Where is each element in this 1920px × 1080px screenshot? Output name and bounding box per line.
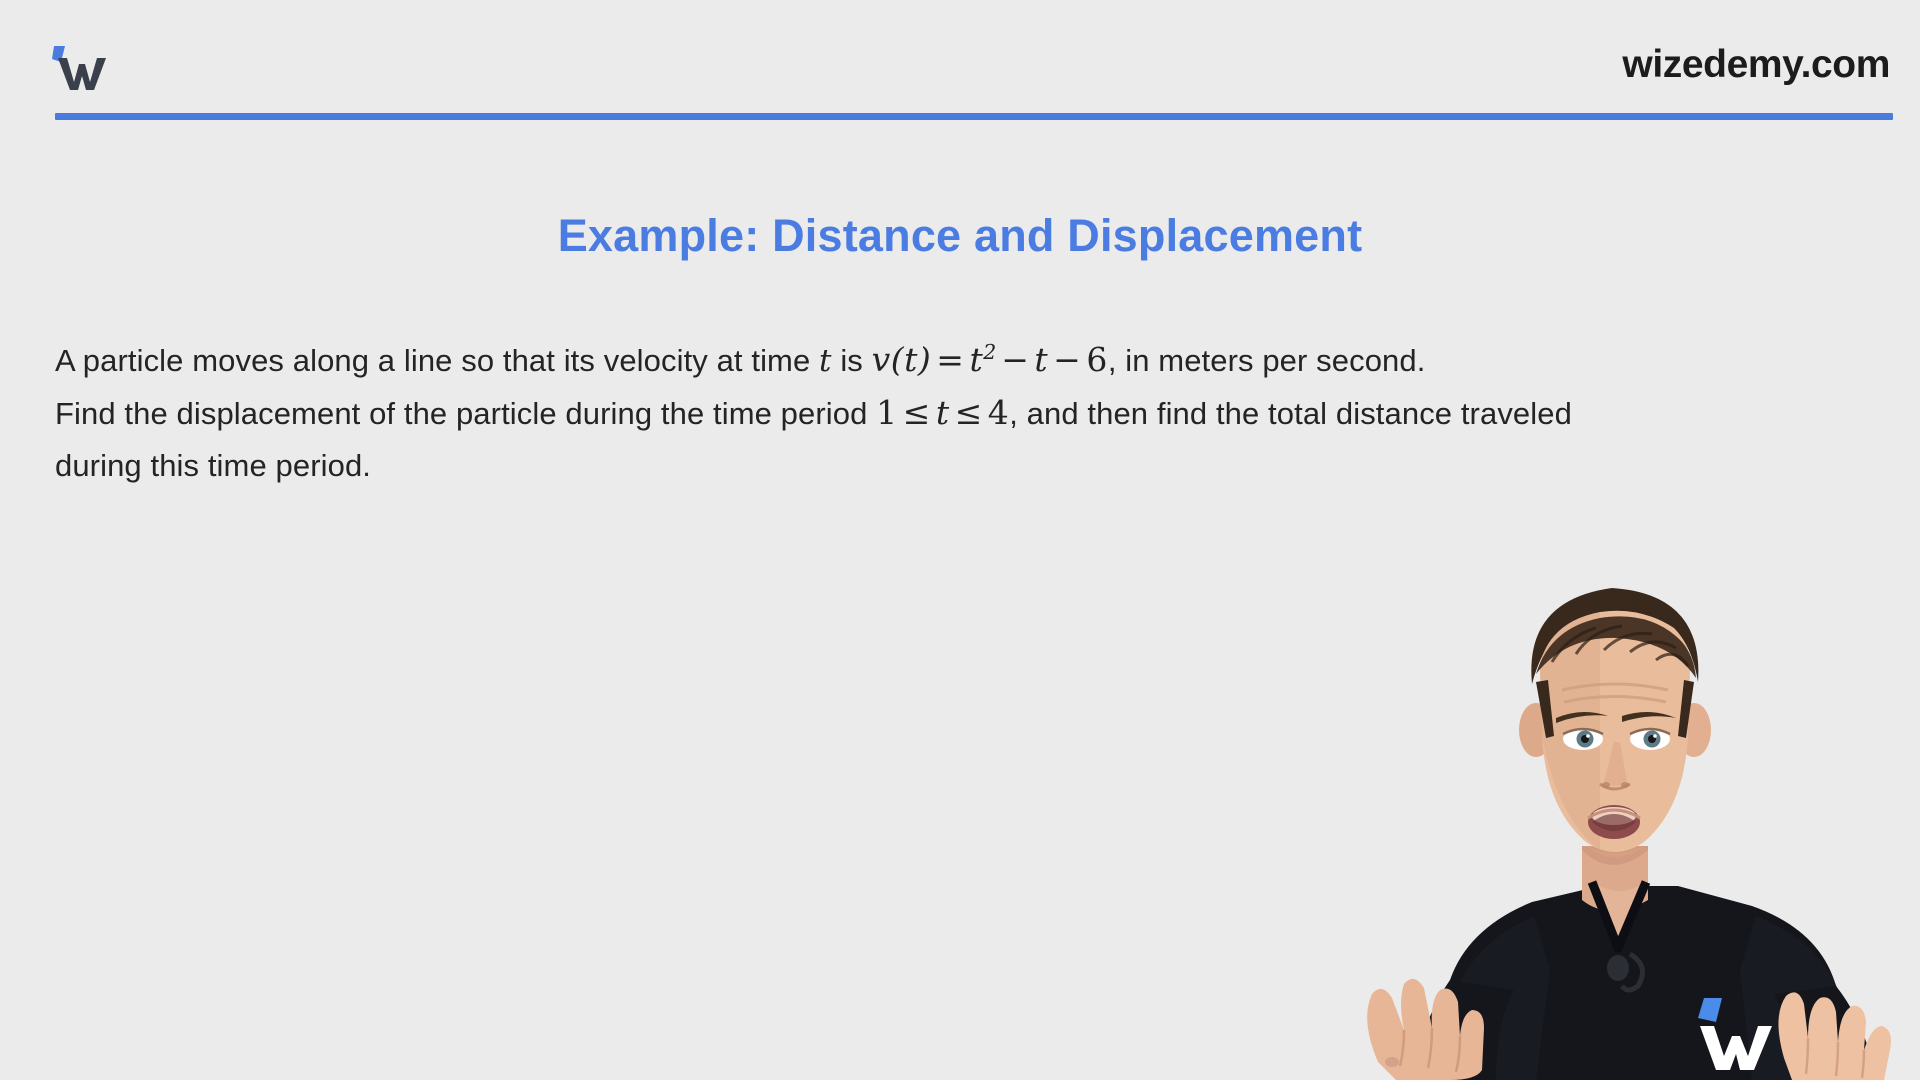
- interval-le-2: ≤: [950, 393, 988, 432]
- problem-line-2: Find the displacement of the particle du…: [55, 387, 1855, 440]
- site-name: wizedemy.com: [1622, 43, 1890, 87]
- slide-canvas: wizedemy.com Example: Distance and Displ…: [0, 0, 1920, 1080]
- line2-text-after: , and then find the total distance trave…: [1009, 396, 1572, 431]
- eq-equals-sign: =: [931, 340, 969, 379]
- interval-variable: t: [936, 393, 950, 432]
- wizedemy-logo-icon: [52, 44, 114, 92]
- eq-term3-number: 6: [1086, 340, 1108, 379]
- problem-line-3: during this time period.: [55, 440, 1855, 492]
- eq-minus-2: −: [1048, 340, 1086, 379]
- eq-lhs-function: v: [872, 340, 891, 379]
- interval-upper-bound: 4: [988, 393, 1010, 432]
- line1-text-before: A particle moves along a line so that it…: [55, 343, 819, 378]
- time-interval-inequality: 1≤t≤4: [876, 393, 1009, 432]
- header-divider: [55, 113, 1893, 120]
- problem-statement: A particle moves along a line so that it…: [55, 326, 1855, 492]
- interval-le-1: ≤: [898, 393, 936, 432]
- interval-lower-bound: 1: [876, 393, 898, 432]
- eq-term1-variable: t: [969, 340, 983, 379]
- eq-lhs-open-paren: (: [891, 340, 904, 379]
- problem-line-1: A particle moves along a line so that it…: [55, 326, 1855, 387]
- presenter-video-overlay: [1300, 550, 1920, 1080]
- eq-lhs-close-paren: ): [918, 340, 931, 379]
- line1-variable-t: t: [819, 343, 832, 379]
- eq-lhs-variable: t: [904, 340, 918, 379]
- slide-header: wizedemy.com: [0, 0, 1920, 122]
- line1-text-mid: is: [832, 343, 872, 378]
- velocity-equation: v(t)=t2−t−6: [872, 340, 1108, 379]
- line1-text-after: , in meters per second.: [1108, 343, 1426, 378]
- eq-term1-exponent: 2: [983, 340, 996, 364]
- line2-text-before: Find the displacement of the particle du…: [55, 396, 876, 431]
- eq-term2-variable: t: [1034, 340, 1048, 379]
- page-title: Example: Distance and Displacement: [0, 210, 1920, 262]
- eq-minus-1: −: [996, 340, 1034, 379]
